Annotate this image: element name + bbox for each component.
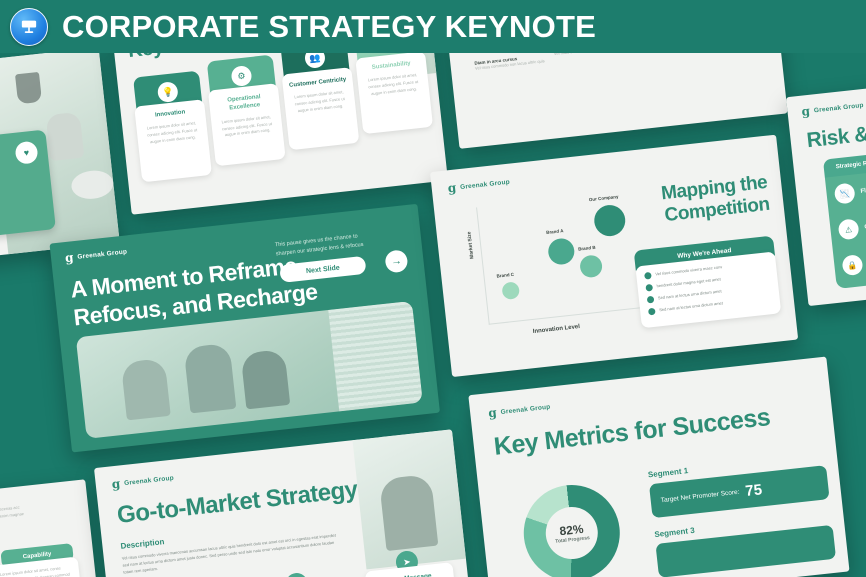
preview-canvas: g Greenak Group Mission & Values viverra… [0,0,866,577]
check-icon [647,296,655,304]
y-axis-label: Market Size [466,231,475,259]
section-label: Description [120,537,165,551]
slide-logo: g Greenak Group [64,245,127,264]
pillar-label: Innovation [141,108,199,120]
logo-text: Greenak Group [814,102,864,114]
x-axis-label: Innovation Level [533,324,581,335]
metric-label: Target Net Promoter Score: [660,488,739,504]
slide-key-metrics-for-success[interactable]: g Greenak Group Key Metrics for Success … [468,357,849,577]
warning-icon: ⚠ [838,218,860,240]
check-icon [645,284,653,292]
data-point-brand-a[interactable] [547,237,576,266]
data-point-brand-c[interactable] [501,281,520,300]
pillar-card[interactable]: Sustainability Lorem ipsum dolor sit ame… [355,51,433,134]
chart-down-icon: 📉 [834,183,856,205]
pillar-label: Operational Excellence [215,92,274,115]
logo-text: Greenak Group [77,248,127,260]
pillar-label: Sustainability [362,60,420,72]
data-label: Brand C [496,272,514,279]
slide-logo: g Greenak Group [488,401,551,420]
slide-go-to-market-strategy[interactable]: g Greenak Group Go-to-Market Strategy De… [94,429,475,577]
data-label: Brand B [578,245,596,252]
segment-label: Segment 1 [647,466,688,479]
panel-title: Strategic Risks [836,160,866,171]
enabler-label: Capability [22,551,51,560]
logo-text: Greenak Group [124,474,174,486]
pillar-body: Lorem ipsum dolor sit amet, consec adici… [142,120,202,147]
pillar-body: Lorem ipsum dolor sit amet, consec adici… [363,72,423,99]
banner-title: CORPORATE STRATEGY KEYNOTE [62,9,596,45]
gtm-card-label: Core Message [372,571,448,577]
logo-mark: g [111,478,121,491]
check-icon [648,308,656,316]
pillar-label: Customer Centricity [288,76,347,91]
panel-item: Sed nam at lectus urna dictum amet [658,289,722,303]
gear-icon: ⚙ [230,65,252,87]
metric-value: 75 [744,481,762,500]
enabler-body: Lorem ipsum dolor sit amet, conse ctetue… [0,564,73,577]
data-point-brand-b[interactable] [579,254,603,278]
slide-risk-and-mitigation[interactable]: g Greenak Group Risk & Strategic Risks 📉… [786,75,866,306]
title-banner: CORPORATE STRATEGY KEYNOTE [0,0,866,53]
pillar-body: Lorem ipsum dolor sit amet, consec adici… [290,89,350,116]
panel-item: hendrerit dolor magna eget est amet [656,277,721,291]
slide-moment-to-reframe[interactable]: g Greenak Group A Moment to Reframe, Ref… [49,204,440,453]
data-label: Brand A [546,228,564,235]
logo-text: Greenak Group [500,403,550,415]
slide-title: Risk & [806,123,866,154]
pillar-card[interactable]: Customer Centricity Lorem ipsum dolor si… [282,67,360,150]
slide-grid: g Greenak Group Mission & Values viverra… [0,0,866,577]
logo-mark: g [488,406,498,419]
logo-mark: g [64,251,74,264]
arrow-right-icon[interactable]: → [384,249,408,273]
strategic-risks-panel[interactable]: Strategic Risks 📉 Fluctuation ⚠ Operatio… [824,151,866,289]
check-icon [644,272,652,280]
progress-donut: 82% Total Progress [519,480,625,577]
lightbulb-icon: 💡 [157,81,179,103]
why-were-ahead-panel[interactable]: Why We're Ahead Vel risus commodo viverr… [634,236,782,329]
slide-logo: g Greenak Group [111,472,174,491]
logo-text: Greenak Group [460,178,510,190]
button-label: Next Slide [306,264,340,275]
panel-item: Sed nam at lectus urna dictum amet [659,300,723,314]
logo-mark: g [447,182,457,195]
slide-logo: g Greenak Group [447,176,510,195]
shield-icon: ♥ [14,141,38,165]
pillar-card[interactable]: Innovation Lorem ipsum dolor sit amet, c… [134,99,212,182]
bullet-item: donec dolor ornare arcu odio viverra [0,192,45,213]
pillar-card[interactable]: Operational Excellence Lorem ipsum dolor… [208,83,286,166]
slide-logo: g Greenak Group [801,99,864,118]
segment-label: Segment 3 [654,526,695,539]
risk-label: Fluctuation [860,185,866,194]
scatter-plot: Market Size Innovation Level Our Company… [476,189,658,325]
slide-mapping-the-competition[interactable]: g Greenak Group Mapping the Competition … [430,135,798,377]
lock-icon: 🔒 [841,254,863,276]
keynote-icon [10,8,48,46]
slide-organizational-enablers[interactable]: g Greenak Group Organizational Enablers … [0,479,107,577]
data-label: Our Company [589,194,619,202]
logo-mark: g [801,105,811,118]
megaphone-icon: 📢 [285,572,309,577]
gtm-photo [352,429,465,569]
pillar-body: Lorem ipsum dolor sit amet, consec adici… [217,113,277,140]
data-point-our-company[interactable] [593,204,627,238]
